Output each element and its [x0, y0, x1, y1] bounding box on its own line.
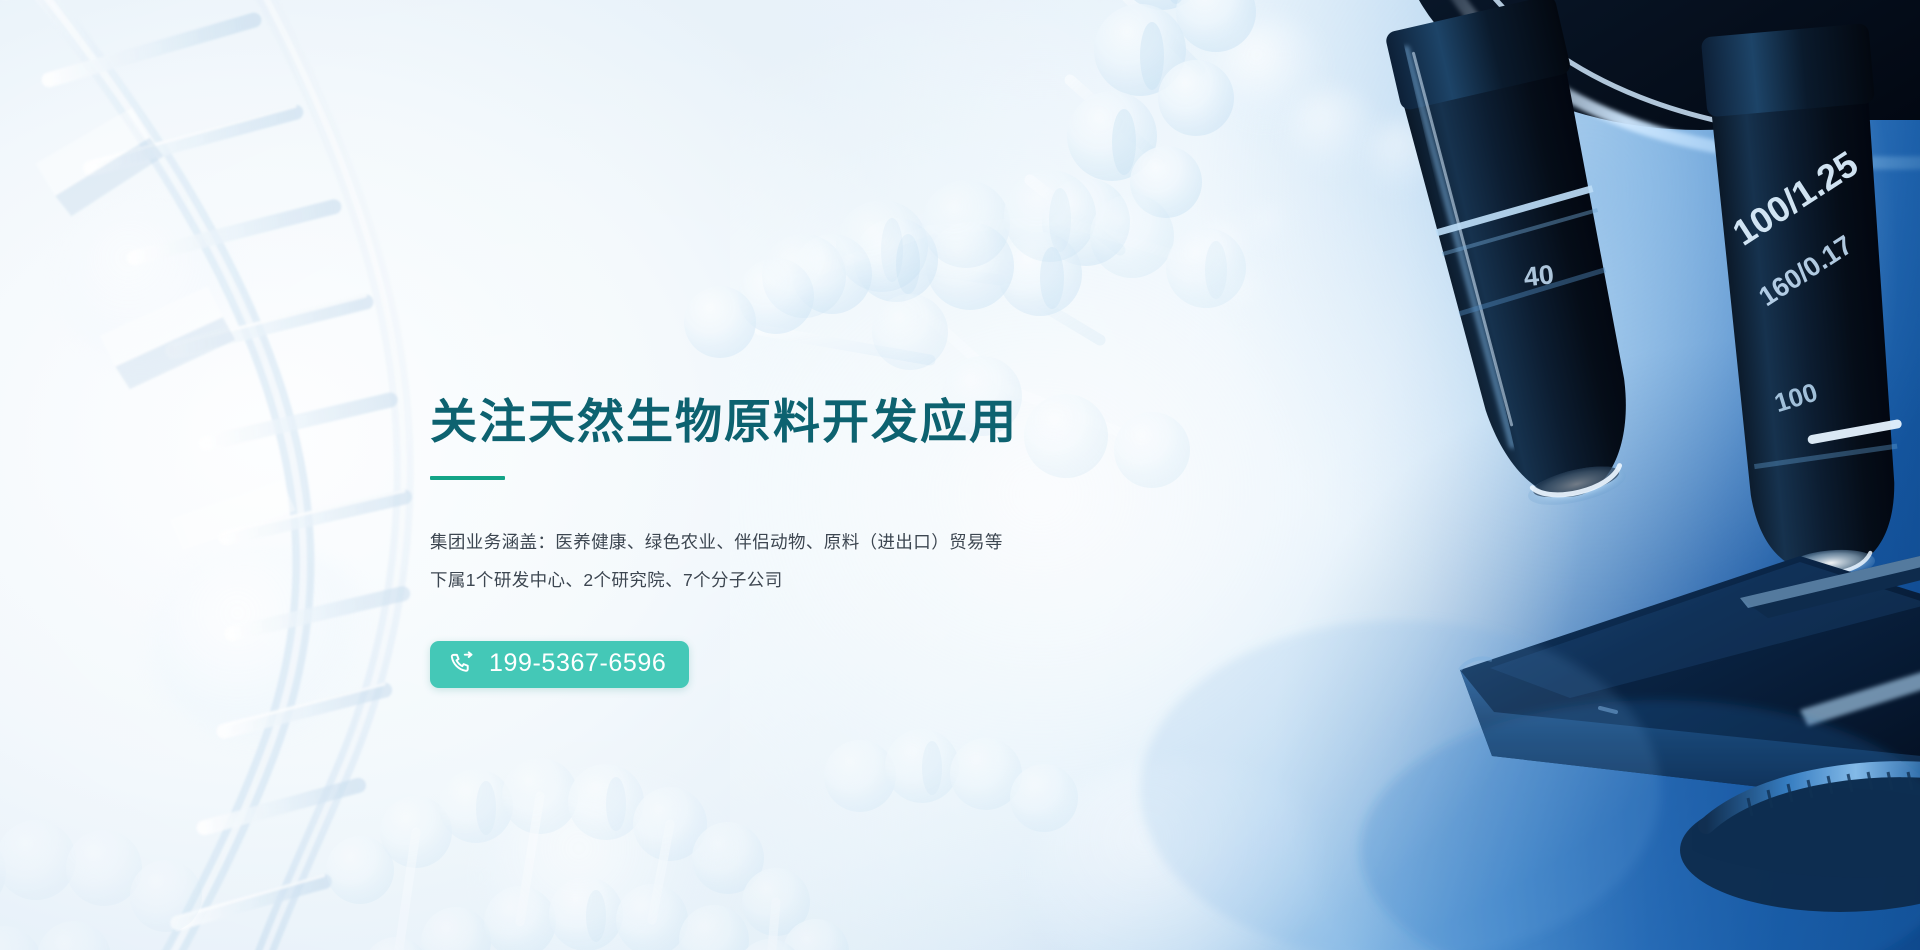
subtitle-line-1: 集团业务涵盖：医养健康、绿色农业、伴侣动物、原料（进出口）贸易等 [430, 523, 1250, 561]
hero-banner: 40 100/1.25 160/0.17 100 [0, 0, 1920, 950]
title-divider [430, 476, 505, 480]
hero-subtitle: 集团业务涵盖：医养健康、绿色农业、伴侣动物、原料（进出口）贸易等 下属1个研发中… [430, 523, 1250, 599]
page-title: 关注天然生物原料开发应用 [430, 396, 1250, 448]
phone-cta-button[interactable]: 199-5367-6596 [430, 641, 689, 688]
hero-content: 关注天然生物原料开发应用 集团业务涵盖：医养健康、绿色农业、伴侣动物、原料（进出… [430, 396, 1250, 688]
subtitle-line-2: 下属1个研发中心、2个研究院、7个分子公司 [430, 561, 1250, 599]
phone-number-label: 199-5367-6596 [489, 651, 666, 678]
phone-forward-icon [448, 650, 476, 678]
